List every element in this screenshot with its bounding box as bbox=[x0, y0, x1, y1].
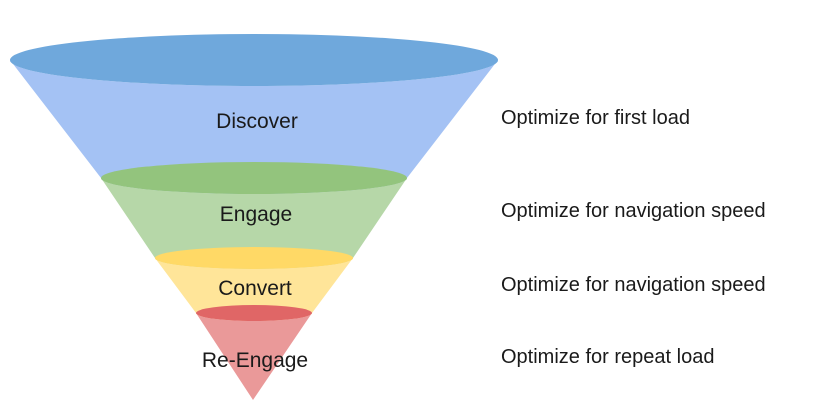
funnel-stage-re-engage[interactable]: Re-Engage bbox=[196, 305, 312, 400]
funnel-annotation-engage: Optimize for navigation speed bbox=[501, 200, 766, 222]
funnel-stage-label-convert: Convert bbox=[218, 277, 292, 300]
funnel-diagram: Discover Engage Convert Re-Engage Optimi… bbox=[0, 0, 837, 417]
funnel-annotation-convert: Optimize for navigation speed bbox=[501, 274, 766, 296]
funnel-chart: Discover Engage Convert Re-Engage Optimi… bbox=[0, 0, 837, 417]
funnel-rim-re-engage bbox=[196, 305, 312, 321]
funnel-rim-convert bbox=[155, 247, 353, 269]
funnel-annotation-discover: Optimize for first load bbox=[501, 107, 690, 129]
funnel-rim-discover bbox=[10, 34, 498, 86]
funnel-stage-label-re-engage: Re-Engage bbox=[202, 349, 308, 372]
funnel-rim-engage bbox=[101, 162, 407, 194]
funnel-stage-label-discover: Discover bbox=[216, 110, 298, 133]
funnel-annotation-re-engage: Optimize for repeat load bbox=[501, 346, 714, 368]
funnel-stage-label-engage: Engage bbox=[220, 203, 292, 226]
